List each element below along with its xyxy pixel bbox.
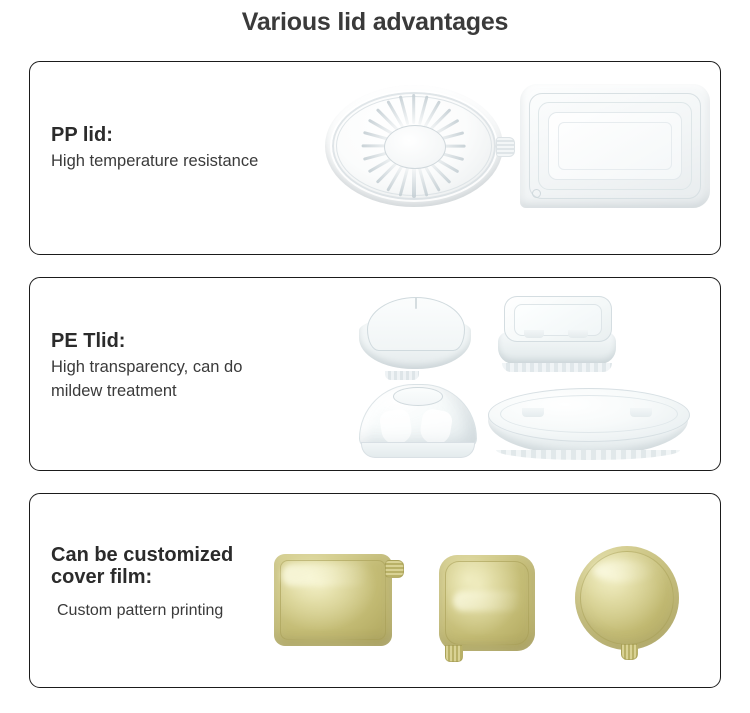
page-title: Various lid advantages <box>0 8 750 37</box>
gold-square-tab <box>445 645 463 662</box>
panel-cover-film: Can be customized cover film: Custom pat… <box>29 493 721 688</box>
gold-rectangular-foil-lid-image <box>274 554 404 646</box>
heart-pet-lid-image <box>357 295 475 375</box>
round-pp-lid-image <box>325 85 503 207</box>
square-lid-shape <box>498 296 616 370</box>
square-pet-lid-image <box>498 296 616 370</box>
panel-film-subtext: Custom pattern printing <box>51 599 233 622</box>
round-lid-shape <box>325 85 503 207</box>
rect-lid-shape <box>520 84 710 208</box>
rectangular-pp-lid-image <box>520 84 710 208</box>
dome-lid-shape <box>359 384 475 460</box>
heart-lid-foot <box>385 371 419 380</box>
panel-film-heading: Can be customized cover film: <box>51 544 233 589</box>
panel-film-text-block: Can be customized cover film: Custom pat… <box>51 544 233 622</box>
gold-square-foil-lid-image <box>439 555 535 663</box>
heart-lid-shape <box>357 295 475 375</box>
panel-pp-subtext: High temperature resistance <box>51 150 258 174</box>
dome-pet-lid-image <box>359 384 475 460</box>
round-lid-center-hub <box>384 125 446 169</box>
oval-pet-lid-image <box>488 388 688 464</box>
dome-lid-rim <box>361 442 475 458</box>
panel-pe-subtext: High transparency, can do mildew treatme… <box>51 356 242 404</box>
square-lid-base <box>502 363 612 372</box>
gold-round-foil-lid-image <box>575 546 679 662</box>
panel-pe-lid: PE Tlid: High transparency, can do milde… <box>29 277 721 471</box>
round-lid-tab <box>496 137 515 157</box>
panel-pp-heading: PP lid: <box>51 124 258 146</box>
panel-pp-text-block: PP lid: High temperature resistance <box>51 124 258 174</box>
gold-rect-tab <box>385 560 404 578</box>
gold-rect-shape <box>274 554 392 646</box>
dome-lid-straw-hole <box>393 387 443 406</box>
oval-lid-serration <box>496 450 680 460</box>
panel-pe-heading: PE Tlid: <box>51 330 242 352</box>
rect-lid-vent-dot <box>532 189 541 198</box>
panel-pp-lid: PP lid: High temperature resistance <box>29 61 721 255</box>
gold-round-tab <box>621 644 638 660</box>
gold-square-shape <box>439 555 535 651</box>
oval-lid-shape <box>488 388 688 464</box>
gold-round-shape <box>575 546 679 650</box>
panel-pe-text-block: PE Tlid: High transparency, can do milde… <box>51 330 242 404</box>
